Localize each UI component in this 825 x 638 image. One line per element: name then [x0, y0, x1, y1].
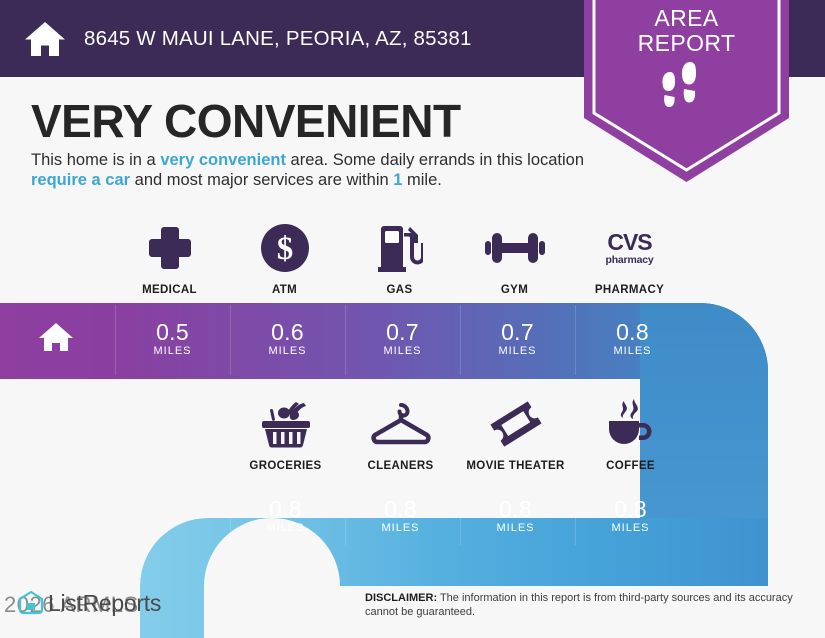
amenity-label: PHARMACY: [595, 284, 664, 296]
header-content: 8645 W MAUI LANE, PEORIA, AZ, 85381: [0, 0, 472, 77]
amenity-pharmacy: CVS pharmacy PHARMACY: [572, 222, 687, 296]
amenity-row-1: MEDICAL $ ATM GAS: [112, 222, 687, 296]
dumbbell-icon: [485, 222, 545, 274]
coffee-cup-icon: [604, 398, 658, 450]
area-report-page: 8645 W MAUI LANE, PEORIA, AZ, 85381 AREA…: [0, 0, 825, 638]
svg-text:$: $: [276, 231, 293, 267]
home-icon: [38, 320, 74, 354]
listreports-wordmark: ListReports: [48, 590, 161, 617]
amenity-label: MEDICAL: [142, 284, 197, 296]
amenity-gym: GYM: [457, 222, 572, 296]
page-title: VERY CONVENIENT: [31, 95, 461, 147]
divider: [460, 305, 461, 375]
disclaimer-label: DISCLAIMER:: [365, 592, 437, 604]
divider: [115, 305, 116, 375]
cvs-pharmacy-icon: CVS pharmacy: [605, 222, 653, 274]
amenity-cleaners: CLEANERS: [343, 398, 458, 472]
area-report-banner: AREA REPORT: [584, 0, 789, 182]
amenity-label: CLEANERS: [367, 460, 433, 472]
disclaimer: DISCLAIMER: The information in this repo…: [365, 592, 795, 619]
amenity-gas: GAS: [342, 222, 457, 296]
amenity-movie-theater: MOVIE THEATER: [458, 398, 573, 472]
cvs-subtext: pharmacy: [605, 255, 653, 266]
divider: [230, 305, 231, 375]
property-address: 8645 W MAUI LANE, PEORIA, AZ, 85381: [84, 27, 472, 51]
divider: [460, 490, 461, 545]
amenity-row-2: GROCERIES CLEANERS MOVIE THEATER: [228, 398, 688, 472]
medical-cross-icon: [146, 222, 194, 274]
divider: [345, 490, 346, 545]
home-icon: [22, 16, 68, 62]
amenity-label: MOVIE THEATER: [466, 460, 564, 472]
cvs-wordmark: CVS: [607, 231, 651, 254]
divider: [575, 490, 576, 545]
gas-pump-icon: [377, 222, 423, 274]
amenity-label: ATM: [272, 284, 297, 296]
summary-part-2: area. Some daily errands in this locatio…: [286, 151, 584, 169]
amenity-label: COFFEE: [606, 460, 655, 472]
dollar-circle-icon: $: [260, 222, 310, 274]
amenity-groceries: GROCERIES: [228, 398, 343, 472]
divider: [575, 305, 576, 375]
summary-highlight-1: very convenient: [160, 151, 286, 169]
movie-ticket-icon: [490, 398, 542, 450]
summary-part-4: mile.: [402, 171, 441, 189]
listreports-logo: ListReports: [16, 588, 161, 618]
summary-text: This home is in a very convenient area. …: [31, 151, 591, 190]
listreports-house-icon: [16, 588, 48, 618]
amenity-coffee: COFFEE: [573, 398, 688, 472]
divider: [230, 490, 231, 545]
amenity-medical: MEDICAL: [112, 222, 227, 296]
amenity-atm: $ ATM: [227, 222, 342, 296]
summary-part-1: This home is in a: [31, 151, 160, 169]
summary-highlight-2: require a car: [31, 171, 130, 189]
divider: [345, 305, 346, 375]
summary-part-3: and most major services are within: [130, 171, 393, 189]
clothes-hanger-icon: [371, 398, 431, 450]
amenity-label: GAS: [387, 284, 413, 296]
amenity-label: GROCERIES: [249, 460, 321, 472]
grocery-basket-icon: [260, 398, 312, 450]
amenity-label: GYM: [501, 284, 528, 296]
